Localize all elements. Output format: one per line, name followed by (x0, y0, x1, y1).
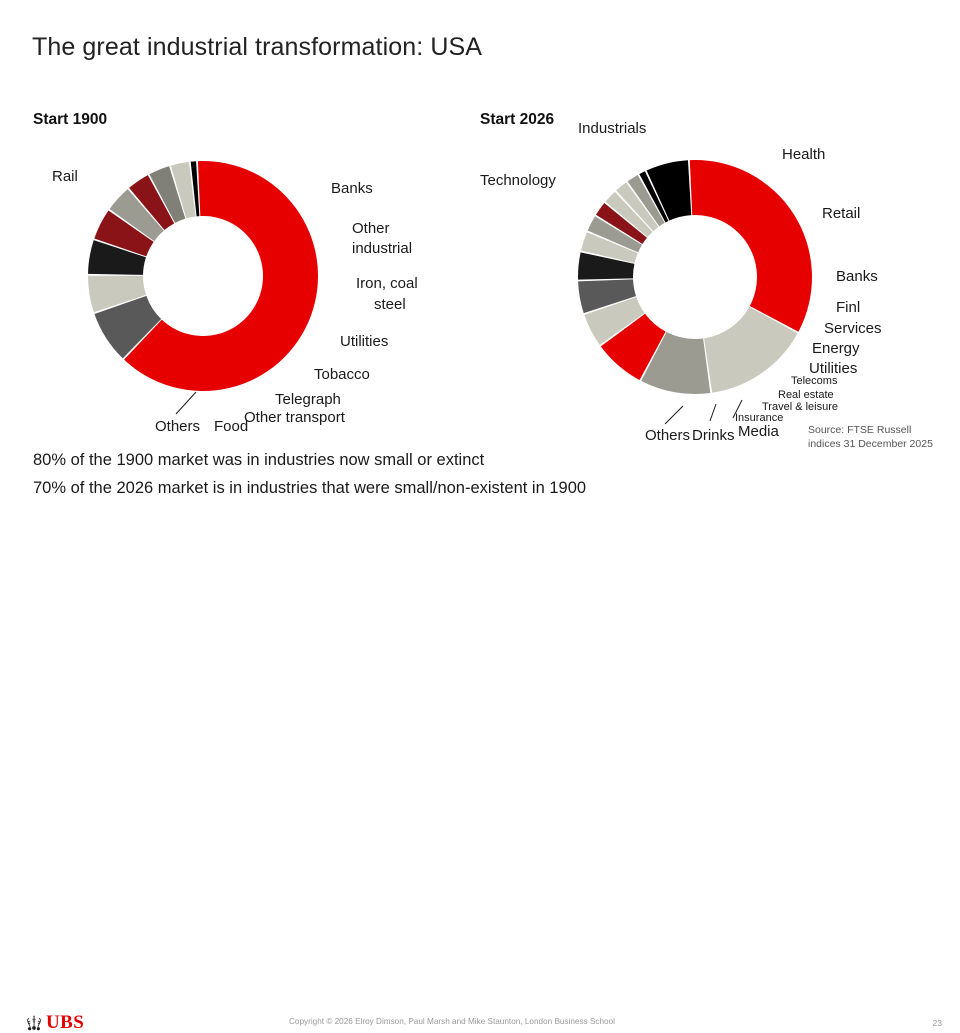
slice-label-technology: Technology (480, 173, 556, 189)
slice-label-other-transport: Other transport (244, 410, 345, 426)
donut-chart-start-2026: TechnologyIndustrialsHealthRetailBanksFi… (578, 160, 812, 424)
slice-label-media: Media (738, 424, 779, 440)
slice-label-telecoms: Telecoms (791, 376, 837, 388)
slice-label-banks: Banks (331, 181, 373, 197)
bullet-1900: 80% of the 1900 market was in industries… (33, 451, 484, 470)
slice-label-others: Others (645, 428, 690, 444)
slice-label-industrial: industrial (352, 241, 412, 257)
slice-label-real-estate: Real estate (778, 390, 834, 402)
slice-label-steel: steel (374, 297, 406, 313)
slide-canvas: The great industrial transformation: USA… (0, 0, 960, 542)
label-leader-line (710, 404, 716, 421)
page-number: 23 (933, 1018, 942, 1028)
slice-label-food: Food (214, 419, 248, 435)
three-keys-icon (25, 1014, 43, 1032)
slice-label-energy: Energy (812, 341, 860, 357)
ubs-wordmark: UBS (46, 1013, 84, 1032)
source-note: Source: FTSE Russell indices 31 December… (808, 424, 933, 452)
slice-label-services: Services (824, 321, 882, 337)
copyright-text: Copyright © 2026 Elroy Dimson, Paul Mars… (289, 1017, 615, 1026)
source-note-line1: Source: FTSE Russell (808, 424, 933, 438)
slice-label-other: Other (352, 221, 390, 237)
donut-chart-start-1900: RailBanksOther industrialIron, coal stee… (88, 161, 318, 414)
slice-label-industrials: Industrials (578, 121, 646, 137)
source-note-line2: indices 31 December 2025 (808, 438, 933, 452)
slice-label-rail: Rail (52, 169, 78, 185)
slice-label-tobacco: Tobacco (314, 367, 370, 383)
footer-bar: UBS Copyright © 2026 Elroy Dimson, Paul … (0, 505, 960, 542)
slice-label-telegraph: Telegraph (275, 392, 341, 408)
slice-label-utilities: Utilities (340, 334, 388, 350)
donut-slice[interactable]: Technology (690, 160, 812, 332)
bullet-2026: 70% of the 2026 market is in industries … (33, 479, 586, 498)
slice-label-finl: Finl (836, 300, 860, 316)
slice-label-iron-coal: Iron, coal (356, 276, 418, 292)
ubs-logo: UBS (25, 1013, 84, 1032)
label-leader-line (176, 392, 196, 414)
slice-label-retail: Retail (822, 206, 860, 222)
slice-label-drinks: Drinks (692, 428, 735, 444)
slice-label-banks: Banks (836, 269, 878, 285)
slice-label-others: Others (155, 419, 200, 435)
slice-label-health: Health (782, 147, 825, 163)
label-leader-line (665, 406, 683, 424)
